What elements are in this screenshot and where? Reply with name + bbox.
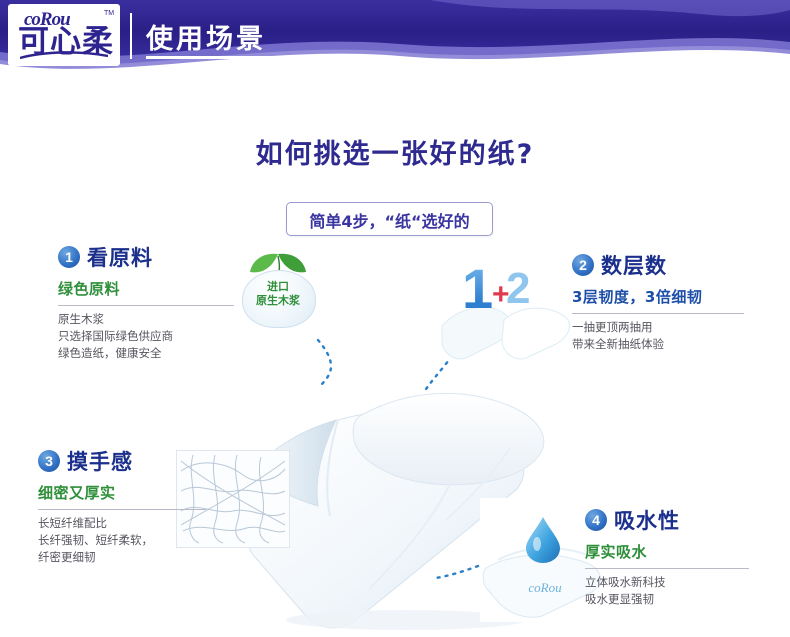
subtitle-pill: 简单4步，“纸“选好的 <box>286 202 493 236</box>
step-1-block: 1 看原料 绿色原料 原生木浆 只选择国际绿色供应商 绿色造纸，健康安全 <box>58 242 240 362</box>
subtitle-pill-text: 简单4步，“纸“选好的 <box>287 208 492 232</box>
green-badge-text: 进口 原生木浆 <box>234 280 322 308</box>
step-2-badge: 2 <box>572 254 594 276</box>
step-4-body-line-1: 立体吸水新科技 <box>585 574 767 591</box>
step-2-title: 数层数 <box>601 250 667 280</box>
step-3-body: 长短纤维配比 长纤强韧、短纤柔软， 纤密更细韧 <box>38 515 214 566</box>
header-divider <box>130 13 132 59</box>
brand-logo: coRou TM 可心柔 <box>8 4 120 66</box>
step-2-header: 2 数层数 <box>572 250 768 280</box>
page-title-underline <box>146 56 274 59</box>
number-two-graphic: 2 <box>506 264 530 314</box>
step-3-block: 3 摸手感 细密又厚实 长短纤维配比 长纤强韧、短纤柔软， 纤密更细韧 <box>38 446 214 566</box>
step-1-divider <box>58 305 234 306</box>
layers-number-illustration: 1 2 + <box>440 250 570 360</box>
step-4-body-line-2: 吸水更显强韧 <box>585 591 767 608</box>
step-3-header: 3 摸手感 <box>38 446 214 476</box>
water-drop-icon <box>524 516 562 564</box>
step-2-block: 2 数层数 3层韧度，3倍细韧 一抽更顶两抽用 带来全新抽纸体验 <box>572 250 768 353</box>
step-3-title: 摸手感 <box>67 446 133 476</box>
step-1-body: 原生木浆 只选择国际绿色供应商 绿色造纸，健康安全 <box>58 311 240 362</box>
step-4-title: 吸水性 <box>614 505 680 535</box>
step-2-divider <box>572 313 744 314</box>
step-4-divider <box>585 568 749 569</box>
step-2-body-line-2: 带来全新抽纸体验 <box>572 336 768 353</box>
step-3-body-line-1: 长短纤维配比 <box>38 515 214 532</box>
step-1-header: 1 看原料 <box>58 242 240 272</box>
step-4-subtitle: 厚实吸水 <box>585 541 767 562</box>
step-1-body-line-1: 原生木浆 <box>58 311 240 328</box>
step-2-body-line-1: 一抽更顶两抽用 <box>572 319 768 336</box>
step-4-block: 4 吸水性 厚实吸水 立体吸水新科技 吸水更显强韧 <box>585 505 767 608</box>
page-header: coRou TM 可心柔 使用场景 <box>0 0 790 78</box>
step-1-badge: 1 <box>58 246 80 268</box>
green-badge-line2: 原生木浆 <box>234 294 322 308</box>
step-4-body: 立体吸水新科技 吸水更显强韧 <box>585 574 767 608</box>
brand-swoosh-icon <box>20 50 108 60</box>
step-3-badge: 3 <box>38 450 60 472</box>
step-3-subtitle: 细密又厚实 <box>38 482 214 503</box>
step-1-body-line-2: 只选择国际绿色供应商 <box>58 328 240 345</box>
step-3-body-line-3: 纤密更细韧 <box>38 549 214 566</box>
trademark-icon: TM <box>104 10 114 17</box>
main-headline: 如何挑选一张好的纸? <box>0 132 790 171</box>
green-material-illustration: 进口 原生木浆 <box>234 248 322 336</box>
plus-sign-graphic: + <box>492 278 510 312</box>
step-1-subtitle: 绿色原料 <box>58 278 240 299</box>
step-2-subtitle: 3层韧度，3倍细韧 <box>572 286 768 307</box>
number-one-graphic: 1 <box>462 256 493 321</box>
step-3-divider <box>38 509 206 510</box>
step-4-header: 4 吸水性 <box>585 505 767 535</box>
step-2-body: 一抽更顶两抽用 带来全新抽纸体验 <box>572 319 768 353</box>
page-title: 使用场景 <box>146 17 266 56</box>
step-4-badge: 4 <box>585 509 607 531</box>
step-1-title: 看原料 <box>87 242 153 272</box>
green-badge-line1: 进口 <box>234 280 322 294</box>
step-1-body-line-3: 绿色造纸，健康安全 <box>58 345 240 362</box>
step-3-body-line-2: 长纤强韧、短纤柔软， <box>38 532 214 549</box>
